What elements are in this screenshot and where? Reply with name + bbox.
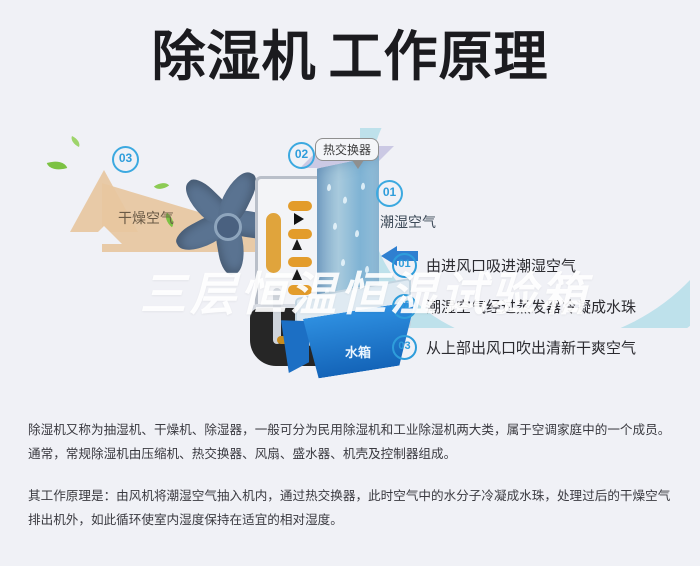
- diagram-stage: 03 干燥空气: [0, 120, 700, 410]
- paragraph-1: 除湿机又称为抽湿机、干燥机、除湿器，一般可分为民用除湿机和工业除湿机两大类，属于…: [28, 418, 678, 466]
- water-droplet-icon: [343, 196, 347, 204]
- water-droplet-icon: [341, 259, 345, 267]
- step-number-badge: 01: [392, 253, 417, 278]
- dry-air-arrow-notch: [86, 226, 122, 244]
- body-copy: 除湿机又称为抽湿机、干燥机、除湿器，一般可分为民用除湿机和工业除湿机两大类，属于…: [28, 418, 678, 550]
- step-text: 从上部出风口吹出清新干爽空气: [426, 337, 636, 358]
- title-part-1: 除湿机: [152, 25, 317, 88]
- humid-air-label: 潮湿空气: [380, 212, 436, 232]
- diagram-badge-02: 02: [288, 142, 315, 169]
- title-block: 除湿机工作原理: [0, 26, 700, 88]
- leaf-icon: [47, 157, 68, 173]
- fan-hub: [214, 213, 242, 241]
- refrigerant-pipe: [288, 229, 312, 239]
- water-droplet-icon: [355, 230, 359, 238]
- water-droplet-icon: [333, 222, 337, 230]
- paragraph-2: 其工作原理是：由风机将潮湿空气抽入机内，通过热交换器，此时空气中的水分子冷凝成水…: [28, 484, 678, 532]
- water-tank-label: 水箱: [345, 342, 371, 361]
- step-text: 由进风口吸进潮湿空气: [426, 255, 576, 276]
- list-item: 03 从上部出风口吹出清新干爽空气: [392, 335, 692, 360]
- list-item: 01 由进风口吸进潮湿空气: [392, 253, 692, 278]
- step-number-badge: 03: [392, 335, 417, 360]
- compressor-cylinder: [266, 213, 281, 273]
- infographic-page: 除湿机工作原理 03 干燥空气: [0, 0, 700, 566]
- water-droplet-icon: [365, 266, 369, 274]
- step-text: 潮湿空气经过蒸发器冷凝成水珠: [426, 296, 636, 317]
- step-number-badge: 02: [392, 294, 417, 319]
- dry-air-label: 干燥空气: [118, 208, 174, 228]
- leaf-icon: [69, 136, 82, 147]
- flow-arrow-up-icon: [292, 269, 302, 280]
- page-title: 除湿机工作原理: [0, 26, 700, 88]
- title-part-2: 工作原理: [329, 25, 549, 88]
- refrigerant-pipe: [288, 201, 312, 211]
- water-droplet-icon: [327, 184, 331, 192]
- refrigerant-pipe: [288, 257, 312, 267]
- diagram-badge-03: 03: [112, 146, 139, 173]
- diagram-badge-01: 01: [376, 180, 403, 207]
- steps-list: 01 由进风口吸进潮湿空气 02 潮湿空气经过蒸发器冷凝成水珠 03 从上部出风…: [392, 253, 692, 376]
- list-item: 02 潮湿空气经过蒸发器冷凝成水珠: [392, 294, 692, 319]
- water-droplet-icon: [361, 182, 365, 190]
- heat-exchanger-callout: 热交换器: [315, 138, 379, 161]
- refrigerant-pipe: [288, 285, 312, 295]
- flow-arrow-up-icon: [292, 239, 302, 250]
- flow-arrow-left-icon: [294, 213, 304, 225]
